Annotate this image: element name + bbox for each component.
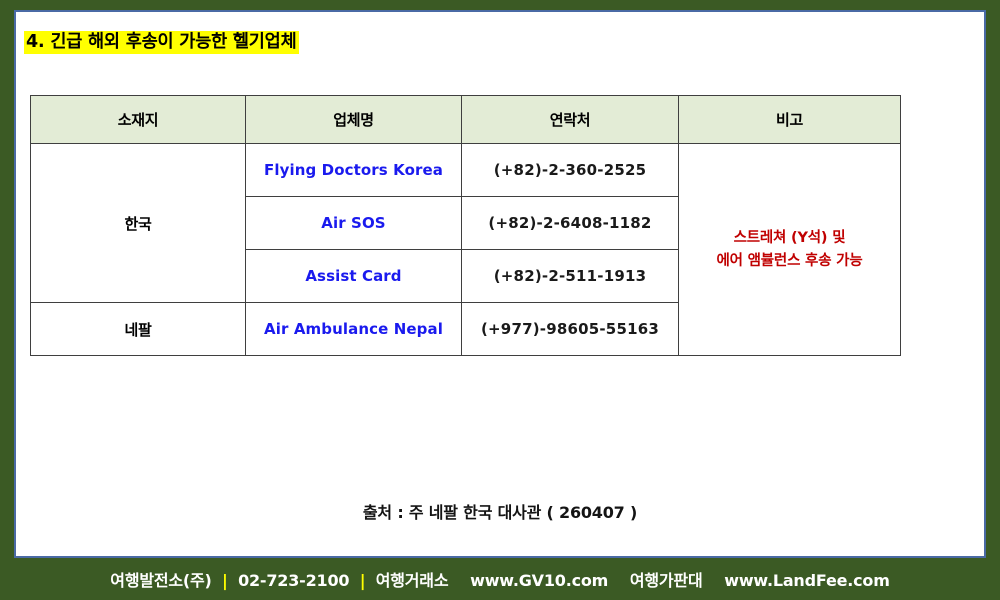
column-header-note: 비고 [679,96,901,144]
column-header-location: 소재지 [31,96,246,144]
cell-location-nepal: 네팔 [31,303,246,356]
cell-note-transport: 스트레쳐 (Y석) 및 에어 앰뷸런스 후송 가능 [679,144,901,356]
note-line-1: 스트레쳐 (Y석) 및 [679,227,900,249]
footer-company-name: 여행발전소(주) [110,571,211,590]
page-title-text: 4. 긴급 해외 후송이 가능한 헬기업체 [24,31,299,54]
footer-bar: 여행발전소(주) | 02-723-2100 | 여행거래소 www.GV10.… [0,558,1000,600]
footer-content: 여행발전소(주) | 02-723-2100 | 여행거래소 www.GV10.… [110,567,889,591]
helicopter-company-table: 소재지 업체명 연락처 비고 한국 Flying Doctors Korea (… [30,95,901,356]
cell-company-air-ambulance-nepal: Air Ambulance Nepal [246,303,462,356]
cell-phone-assist-card: (+82)-2-511-1913 [462,250,679,303]
cell-location-korea: 한국 [31,144,246,303]
footer-separator-1: | [217,571,233,590]
footer-phone: 02-723-2100 [238,571,349,590]
note-line-2: 에어 앰뷸런스 후송 가능 [679,250,900,272]
cell-phone-air-ambulance-nepal: (+977)-98605-55163 [462,303,679,356]
source-note: 출처 : 주 네팔 한국 대사관 ( 260407 ) [16,499,984,523]
column-header-company: 업체명 [246,96,462,144]
footer-separator-2: | [355,571,371,590]
slide-canvas: 4. 긴급 해외 후송이 가능한 헬기업체 소재지 업체명 연락처 비고 한국 … [0,0,1000,600]
cell-company-flying-doctors-korea: Flying Doctors Korea [246,144,462,197]
page-title: 4. 긴급 해외 후송이 가능한 헬기업체 [24,30,299,55]
cell-phone-air-sos: (+82)-2-6408-1182 [462,197,679,250]
cell-company-air-sos: Air SOS [246,197,462,250]
table-header-row: 소재지 업체명 연락처 비고 [31,96,901,144]
slide-white-page: 4. 긴급 해외 후송이 가능한 헬기업체 소재지 업체명 연락처 비고 한국 … [14,10,986,558]
table-row: 한국 Flying Doctors Korea (+82)-2-360-2525… [31,144,901,197]
footer-site-landfee[interactable]: www.LandFee.com [724,571,889,590]
footer-brand-landfee: 여행가판대 [630,571,703,590]
footer-site-gv10[interactable]: www.GV10.com [470,571,608,590]
cell-phone-flying-doctors-korea: (+82)-2-360-2525 [462,144,679,197]
column-header-phone: 연락처 [462,96,679,144]
footer-brand-gv10: 여행거래소 [376,571,449,590]
cell-company-assist-card: Assist Card [246,250,462,303]
